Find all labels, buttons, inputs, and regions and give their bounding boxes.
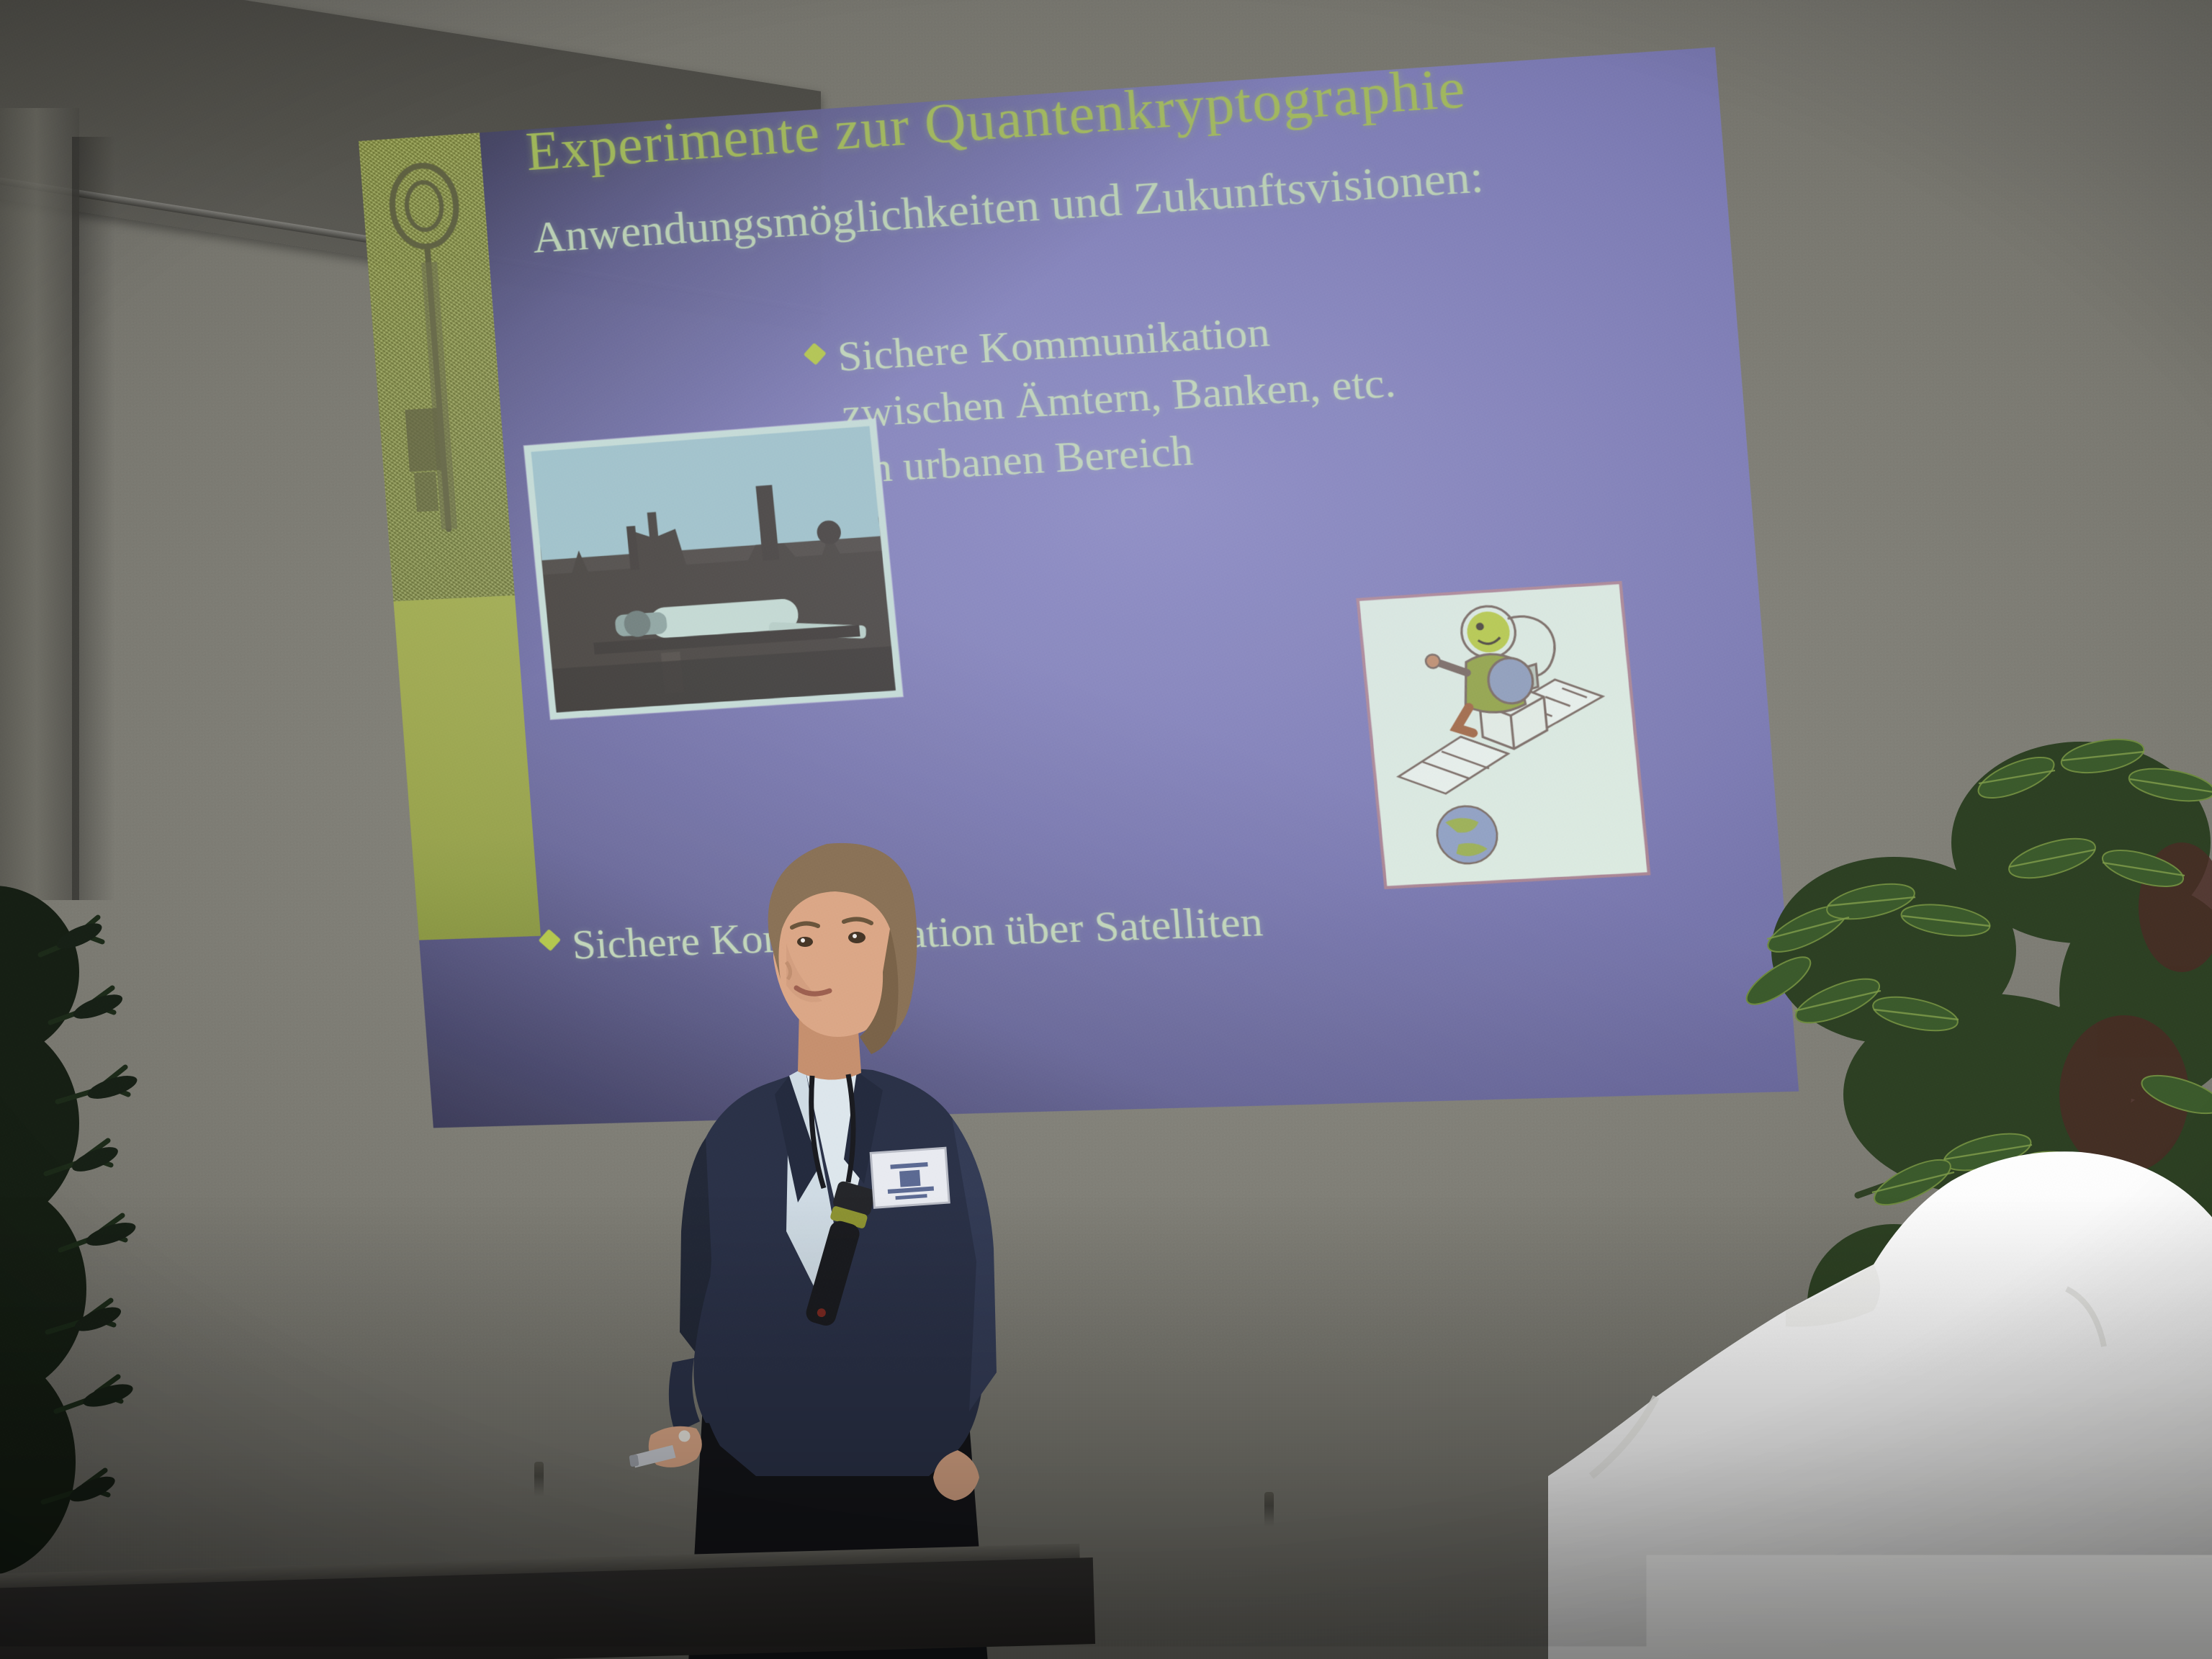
slide-clipart-satellite xyxy=(1359,584,1647,886)
slide-bullet-1: Sichere Kommunikation zwischen Ämtern, B… xyxy=(835,276,1731,498)
slide-accent-band-solid xyxy=(393,595,540,940)
photograph-scene: Experimente zur Quantenkryptographie Anw… xyxy=(0,0,2212,1659)
bullet-diamond-icon xyxy=(804,343,827,366)
wall-pillar xyxy=(0,108,79,900)
pillar-shadow xyxy=(72,137,115,900)
slide-photo-skyline xyxy=(524,419,904,719)
bullet-diamond-icon xyxy=(539,929,561,951)
skyline-graphic xyxy=(531,426,895,713)
